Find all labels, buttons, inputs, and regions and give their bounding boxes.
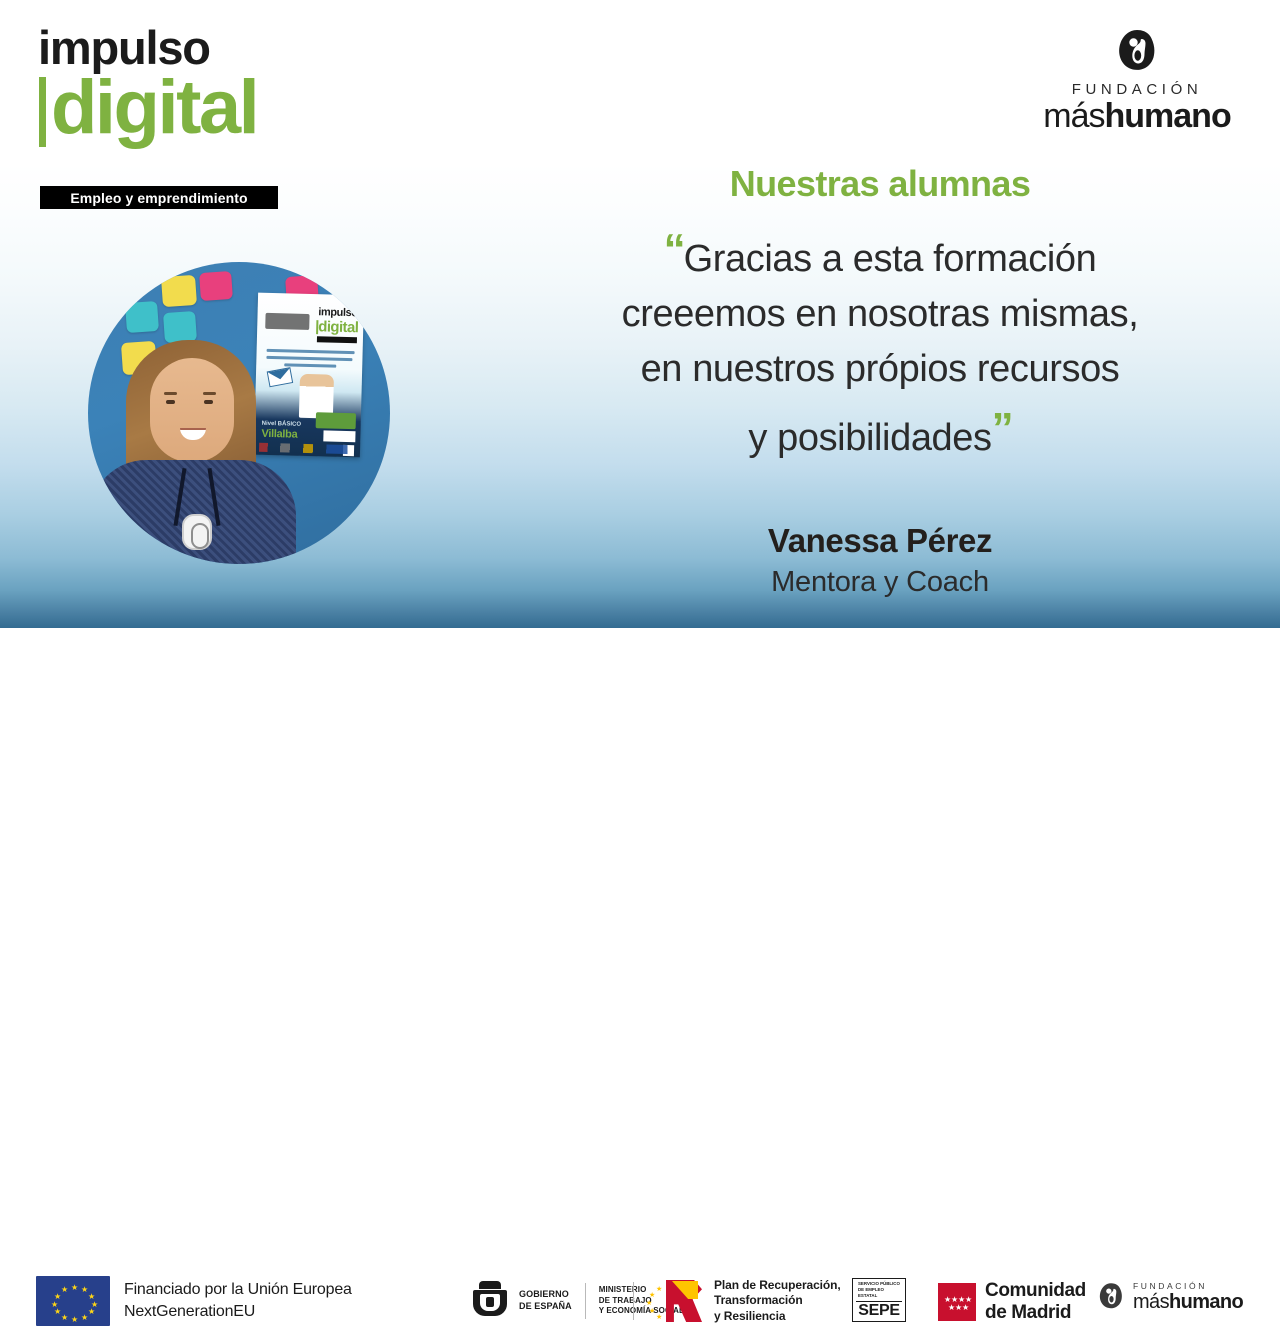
person-mouth <box>180 428 206 440</box>
person-id-badge <box>182 514 212 550</box>
fundacion-mashumano-logo-footer: FUNDACIÓN máshumano <box>1096 1282 1243 1312</box>
quote-line-1: Gracias a esta formación <box>684 238 1097 280</box>
brand-impulso-text: impulso <box>38 24 257 71</box>
mashumano-footer-mas: más <box>1133 1291 1169 1313</box>
gobierno-line1: GOBIERNO <box>519 1289 572 1301</box>
fundacion-mashumano-logo-top: FUNDACIÓN máshumano <box>1032 28 1242 133</box>
eu-funding-logo: ★ ★ ★ ★ ★ ★ ★ ★ ★ ★ ★ ★ Financiado por l… <box>36 1276 352 1326</box>
plan-recuperacion-logo: ★ ★ ★ ★ ★ Plan de Recuperación, Transfor… <box>646 1279 841 1323</box>
person-eyebrow-right <box>203 392 216 395</box>
brand-digital-text: digital <box>51 75 257 140</box>
fundacion-footer-text: FUNDACIÓN máshumano <box>1133 1282 1243 1312</box>
poster-digital-text: digital <box>318 318 358 336</box>
spain-coat-of-arms-icon <box>470 1281 510 1321</box>
sepe-line2: DE EMPLEO ESTATAL <box>858 1287 903 1299</box>
fundacion-footer-eyebrow: FUNDACIÓN <box>1133 1282 1243 1291</box>
close-quote-mark: ” <box>992 404 1012 453</box>
open-quote-mark: “ <box>664 225 684 274</box>
logo-divider <box>585 1283 586 1319</box>
fundacion-eyebrow: FUNDACIÓN <box>1032 82 1242 97</box>
sticky-note <box>161 275 197 307</box>
impulso-digital-logo: impulso digital <box>38 24 257 147</box>
person-face <box>150 358 234 462</box>
quote-text: “Gracias a esta formación creeemos en no… <box>520 218 1240 466</box>
mashumano-footer-wordmark: máshumano <box>1133 1292 1243 1312</box>
poster-text-line <box>284 363 336 367</box>
testimonial-block: Nuestras alumnas “Gracias a esta formaci… <box>520 164 1240 599</box>
comunidad-madrid-logo: ★ ★ ★ ★ ★ ★ ★ Comunidad de Madrid <box>938 1280 1086 1324</box>
gobierno-line2: DE ESPAÑA <box>519 1301 572 1313</box>
quote-line-4: y posibilidades <box>748 417 991 459</box>
logo-divider <box>633 1282 634 1320</box>
plan-line1: Plan de Recuperación, <box>714 1278 841 1293</box>
section-heading: Nuestras alumnas <box>520 164 1240 204</box>
poster-impulso-text: impulso <box>318 306 358 319</box>
mashumano-humano: humano <box>1105 97 1231 135</box>
poster-green-box <box>316 412 356 429</box>
mashumano-footer-humano: humano <box>1169 1291 1243 1313</box>
plan-line3: y Resiliencia <box>714 1309 841 1324</box>
sepe-logo: SERVICIO PÚBLICO DE EMPLEO ESTATAL SEPE <box>852 1278 906 1322</box>
mashumano-mas: más <box>1043 97 1104 135</box>
author-name: Vanessa Pérez <box>520 522 1240 560</box>
sticky-note <box>199 271 233 301</box>
madrid-stars-icon: ★ ★ ★ ★ ★ ★ ★ <box>938 1283 976 1321</box>
footer-bar: ★ ★ ★ ★ ★ ★ ★ ★ ★ ★ ★ ★ Financiado por l… <box>0 628 1280 720</box>
student-photo: impulso digital Nivel BÁSICO Villalba <box>88 262 390 564</box>
mashumano-figure-icon <box>1096 1282 1126 1312</box>
madrid-line1: Comunidad <box>985 1280 1086 1302</box>
gobierno-text: GOBIERNO DE ESPAÑA <box>519 1289 572 1312</box>
sepe-full-name: SERVICIO PÚBLICO DE EMPLEO ESTATAL <box>855 1281 903 1299</box>
eu-funding-text: Financiado por la Unión Europea NextGene… <box>124 1279 352 1322</box>
person-eyebrow-left <box>164 392 177 395</box>
author-role: Mentora y Coach <box>520 566 1240 599</box>
poster-white-box <box>323 430 355 442</box>
madrid-line2: de Madrid <box>985 1302 1086 1324</box>
quote-line-3: en nuestros própios recursos <box>641 348 1120 390</box>
quote-line-2: creeemos en nosotras mismas, <box>622 293 1139 335</box>
plan-recuperacion-text: Plan de Recuperación, Transformación y R… <box>714 1278 841 1324</box>
mashumano-wordmark: máshumano <box>1032 99 1242 133</box>
plan-recuperacion-r-icon: ★ ★ ★ ★ ★ <box>646 1280 706 1322</box>
empleo-emprendimiento-badge: Empleo y emprendimiento <box>40 186 278 209</box>
eu-funding-line2: NextGenerationEU <box>124 1301 352 1323</box>
sepe-acronym: SEPE <box>858 1303 900 1319</box>
badge-label: Empleo y emprendimiento <box>70 190 247 206</box>
mashumano-figure-icon <box>1113 28 1161 76</box>
brand-green-bar <box>39 77 46 147</box>
person-eye-left <box>166 400 175 404</box>
poster-black-badge <box>317 336 357 343</box>
eu-funding-line1: Financiado por la Unión Europea <box>124 1279 352 1301</box>
slide-canvas: impulso digital Empleo y emprendimiento … <box>0 0 1280 628</box>
plan-line2: Transformación <box>714 1293 841 1308</box>
madrid-text: Comunidad de Madrid <box>985 1280 1086 1324</box>
person-eye-right <box>204 400 213 404</box>
person-figure <box>96 314 286 564</box>
eu-flag-icon: ★ ★ ★ ★ ★ ★ ★ ★ ★ ★ ★ ★ <box>36 1276 110 1326</box>
